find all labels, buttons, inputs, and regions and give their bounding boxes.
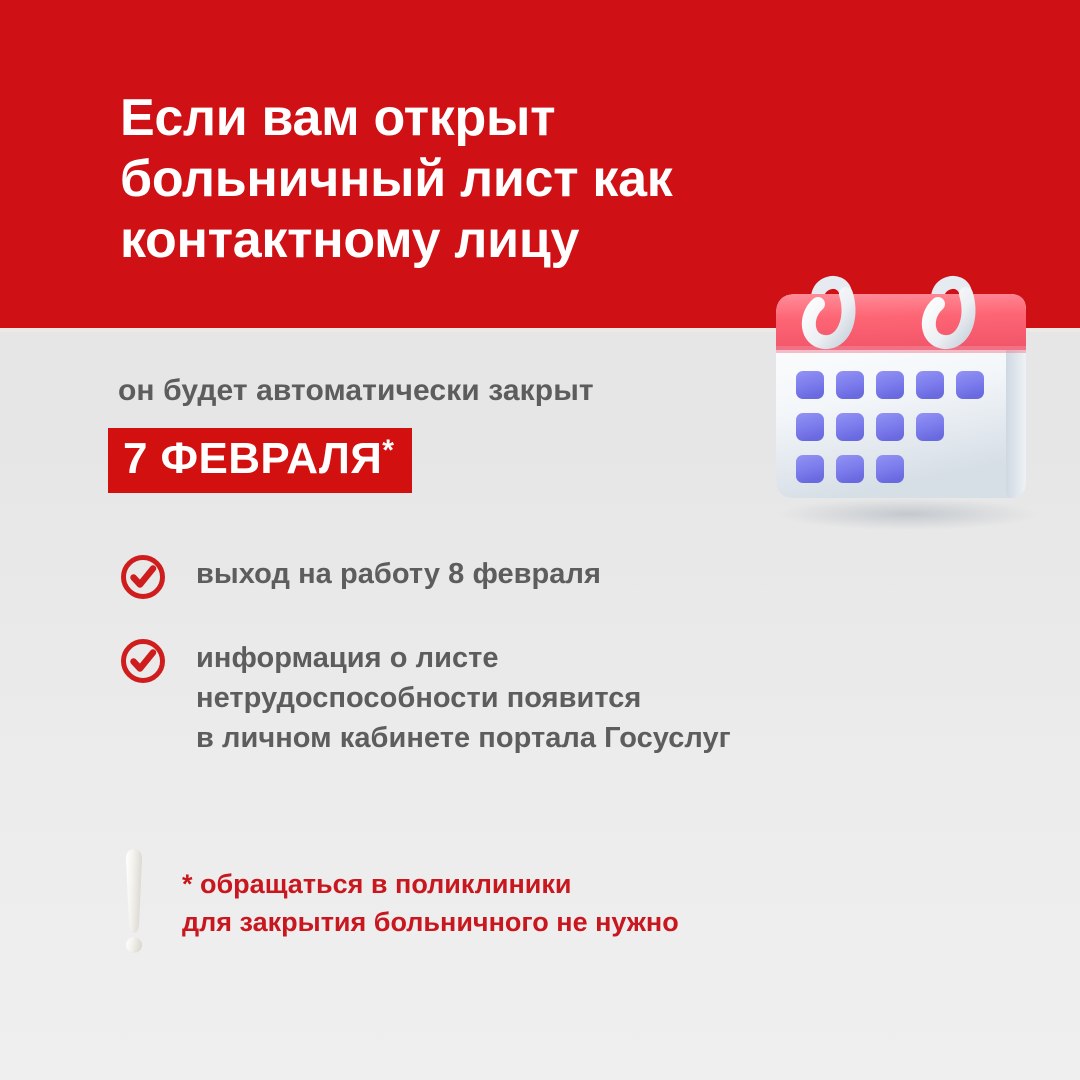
list-item-line: в личном кабинете портала Госуслуг	[196, 718, 731, 758]
exclamation-dot	[126, 937, 142, 953]
title-line-1: Если вам открыт	[120, 88, 910, 149]
date-badge-text: 7 ФЕВРАЛЯ	[123, 434, 382, 483]
list-item-line: выход на работу 8 февраля	[196, 554, 601, 594]
list-item-text: информация о листе нетрудоспособности по…	[196, 636, 731, 758]
date-badge-asterisk: *	[382, 434, 394, 467]
footnote-text: * обращаться в поликлиники для закрытия …	[182, 845, 679, 941]
exclamation-mark-icon	[108, 845, 160, 955]
calendar-header-edge	[776, 346, 1026, 353]
calendar-illustration	[758, 246, 1048, 536]
calendar-shadow	[780, 498, 1036, 530]
list-item-line: нетрудоспособности появится	[196, 678, 731, 718]
footnote: * обращаться в поликлиники для закрытия …	[108, 845, 679, 955]
list-item-text: выход на работу 8 февраля	[196, 552, 601, 594]
subtitle-text: он будет автоматически закрыт	[118, 374, 594, 408]
list-item: информация о листе нетрудоспособности по…	[120, 636, 970, 758]
list-item: выход на работу 8 февраля	[120, 552, 970, 600]
infographic-poster: Если вам открыт больничный лист как конт…	[0, 0, 1080, 1080]
check-circle-icon	[120, 554, 166, 600]
page-title: Если вам открыт больничный лист как конт…	[120, 88, 910, 271]
benefits-list: выход на работу 8 февраля информация о л…	[120, 552, 970, 794]
title-line-3: контактному лицу	[120, 210, 910, 271]
footnote-line: для закрытия больничного не нужно	[182, 903, 679, 941]
date-badge: 7 ФЕВРАЛЯ*	[108, 428, 412, 493]
title-line-2: больничный лист как	[120, 149, 910, 210]
footnote-line: * обращаться в поликлиники	[182, 865, 679, 903]
check-circle-icon	[120, 638, 166, 684]
exclamation-bar	[126, 849, 142, 933]
list-item-line: информация о листе	[196, 638, 731, 678]
